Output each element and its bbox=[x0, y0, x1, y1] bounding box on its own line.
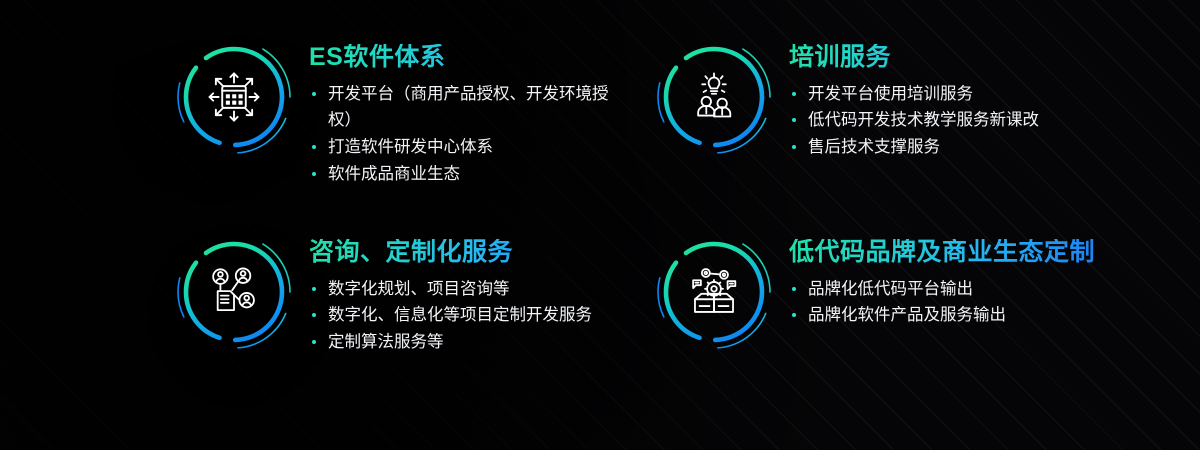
card-title: 咨询、定制化服务 bbox=[309, 239, 592, 267]
lightbulb-people-icon bbox=[685, 68, 743, 126]
card-text: 培训服务 开发平台使用培训服务 低代码开发技术教学服务新课改 售后技术支撑服务 bbox=[773, 34, 1039, 161]
list-item: 定制算法服务等 bbox=[309, 329, 592, 356]
list-item: 低代码开发技术教学服务新课改 bbox=[789, 107, 1039, 134]
card-bullet-list: 品牌化低代码平台输出 品牌化软件产品及服务输出 bbox=[789, 276, 1095, 329]
icon-badge bbox=[175, 38, 293, 156]
card-title: 低代码品牌及商业生态定制 bbox=[789, 239, 1095, 267]
list-item: 数字化、信息化等项目定制开发服务 bbox=[309, 302, 592, 329]
card-text: 咨询、定制化服务 数字化规划、项目咨询等 数字化、信息化等项目定制开发服务 定制… bbox=[293, 229, 592, 356]
chip-expand-icon bbox=[205, 68, 263, 126]
card-text: ES软件体系 开发平台（商用产品授权、开发环境授权） 打造软件研发中心体系 软件… bbox=[293, 34, 609, 187]
list-item: 软件成品商业生态 bbox=[309, 161, 609, 188]
icon-badge bbox=[655, 233, 773, 351]
list-item: 数字化规划、项目咨询等 bbox=[309, 276, 592, 303]
service-card-grid: ES软件体系 开发平台（商用产品授权、开发环境授权） 打造软件研发中心体系 软件… bbox=[0, 0, 1200, 424]
card-title: ES软件体系 bbox=[309, 44, 609, 72]
people-document-network-icon bbox=[205, 263, 263, 321]
card-text: 低代码品牌及商业生态定制 品牌化低代码平台输出 品牌化软件产品及服务输出 bbox=[773, 229, 1095, 329]
gear-package-icon bbox=[685, 263, 743, 321]
card-bullet-list: 开发平台使用培训服务 低代码开发技术教学服务新课改 售后技术支撑服务 bbox=[789, 81, 1039, 161]
card-bullet-list: 数字化规划、项目咨询等 数字化、信息化等项目定制开发服务 定制算法服务等 bbox=[309, 276, 592, 356]
service-card-es-software-system[interactable]: ES软件体系 开发平台（商用产品授权、开发环境授权） 打造软件研发中心体系 软件… bbox=[175, 34, 655, 229]
card-bullet-list: 开发平台（商用产品授权、开发环境授权） 打造软件研发中心体系 软件成品商业生态 bbox=[309, 81, 609, 188]
list-item: 开发平台（商用产品授权、开发环境授权） bbox=[309, 81, 609, 134]
service-card-consulting-customization[interactable]: 咨询、定制化服务 数字化规划、项目咨询等 数字化、信息化等项目定制开发服务 定制… bbox=[175, 229, 655, 424]
card-title: 培训服务 bbox=[789, 44, 1039, 72]
list-item: 售后技术支撑服务 bbox=[789, 134, 1039, 161]
list-item: 打造软件研发中心体系 bbox=[309, 134, 609, 161]
service-card-lowcode-brand-ecosystem[interactable]: 低代码品牌及商业生态定制 品牌化低代码平台输出 品牌化软件产品及服务输出 bbox=[655, 229, 1200, 424]
service-card-training-service[interactable]: 培训服务 开发平台使用培训服务 低代码开发技术教学服务新课改 售后技术支撑服务 bbox=[655, 34, 1200, 229]
list-item: 开发平台使用培训服务 bbox=[789, 81, 1039, 108]
list-item: 品牌化低代码平台输出 bbox=[789, 276, 1095, 303]
icon-badge bbox=[655, 38, 773, 156]
list-item: 品牌化软件产品及服务输出 bbox=[789, 302, 1095, 329]
slide-canvas: ES软件体系 开发平台（商用产品授权、开发环境授权） 打造软件研发中心体系 软件… bbox=[0, 0, 1200, 450]
icon-badge bbox=[175, 233, 293, 351]
